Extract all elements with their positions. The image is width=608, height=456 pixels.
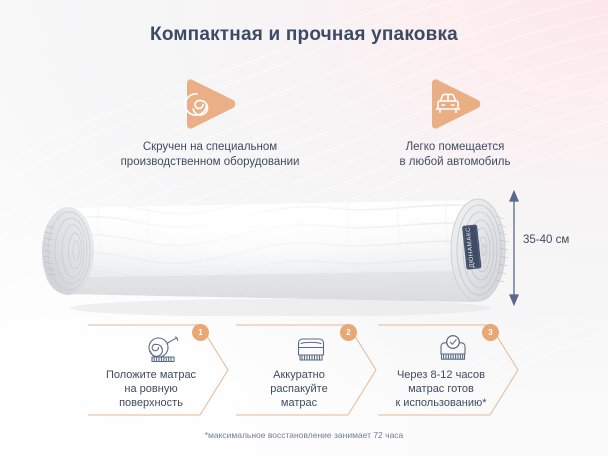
step-label: Положите матрас на ровную поверхность (82, 368, 220, 410)
dimension-indicator: 35-40 см (505, 190, 605, 306)
steps-row: 1 Положите матрас на ровную поверхность (88, 322, 528, 418)
feature-label: Легко помещается в любой автомобиль (330, 140, 580, 170)
step-item-1: 1 Положите матрас на ровную поверхность (88, 322, 238, 418)
vertical-double-arrow-icon (505, 190, 535, 306)
feature-label: Скручен на специальном производственном … (60, 140, 360, 170)
car-icon (426, 78, 484, 130)
feature-row: Скручен на специальном производственном … (0, 78, 608, 178)
step-item-3: 3 Через 8-12 часов матрас готов к исполь… (378, 322, 528, 418)
page-title: Компактная и прочная упаковка (0, 24, 608, 46)
dimension-label: 35-40 см (523, 234, 569, 246)
step-label: Через 8-12 часов матрас готов к использо… (372, 368, 510, 410)
rolled-mattress-on-surface-icon (88, 334, 238, 364)
rolled-mattress-image: ДЮНАМАКС (30, 186, 520, 316)
mattress-ready-check-icon (378, 334, 528, 364)
footnote: *максимальное восстановление занимает 72… (0, 430, 608, 440)
unpack-mattress-icon (236, 334, 386, 364)
feature-item-car: Легко помещается в любой автомобиль (330, 78, 580, 170)
feature-item-spiral: Скручен на специальном производственном … (60, 78, 360, 170)
step-label: Аккуратно распакуйте матрас (230, 368, 368, 410)
promo-banner: Компактная и прочная упаковка Скручен на… (0, 0, 608, 456)
spiral-roll-icon (181, 78, 239, 130)
step-item-2: 2 Аккуратно распакуйте матрас (236, 322, 386, 418)
